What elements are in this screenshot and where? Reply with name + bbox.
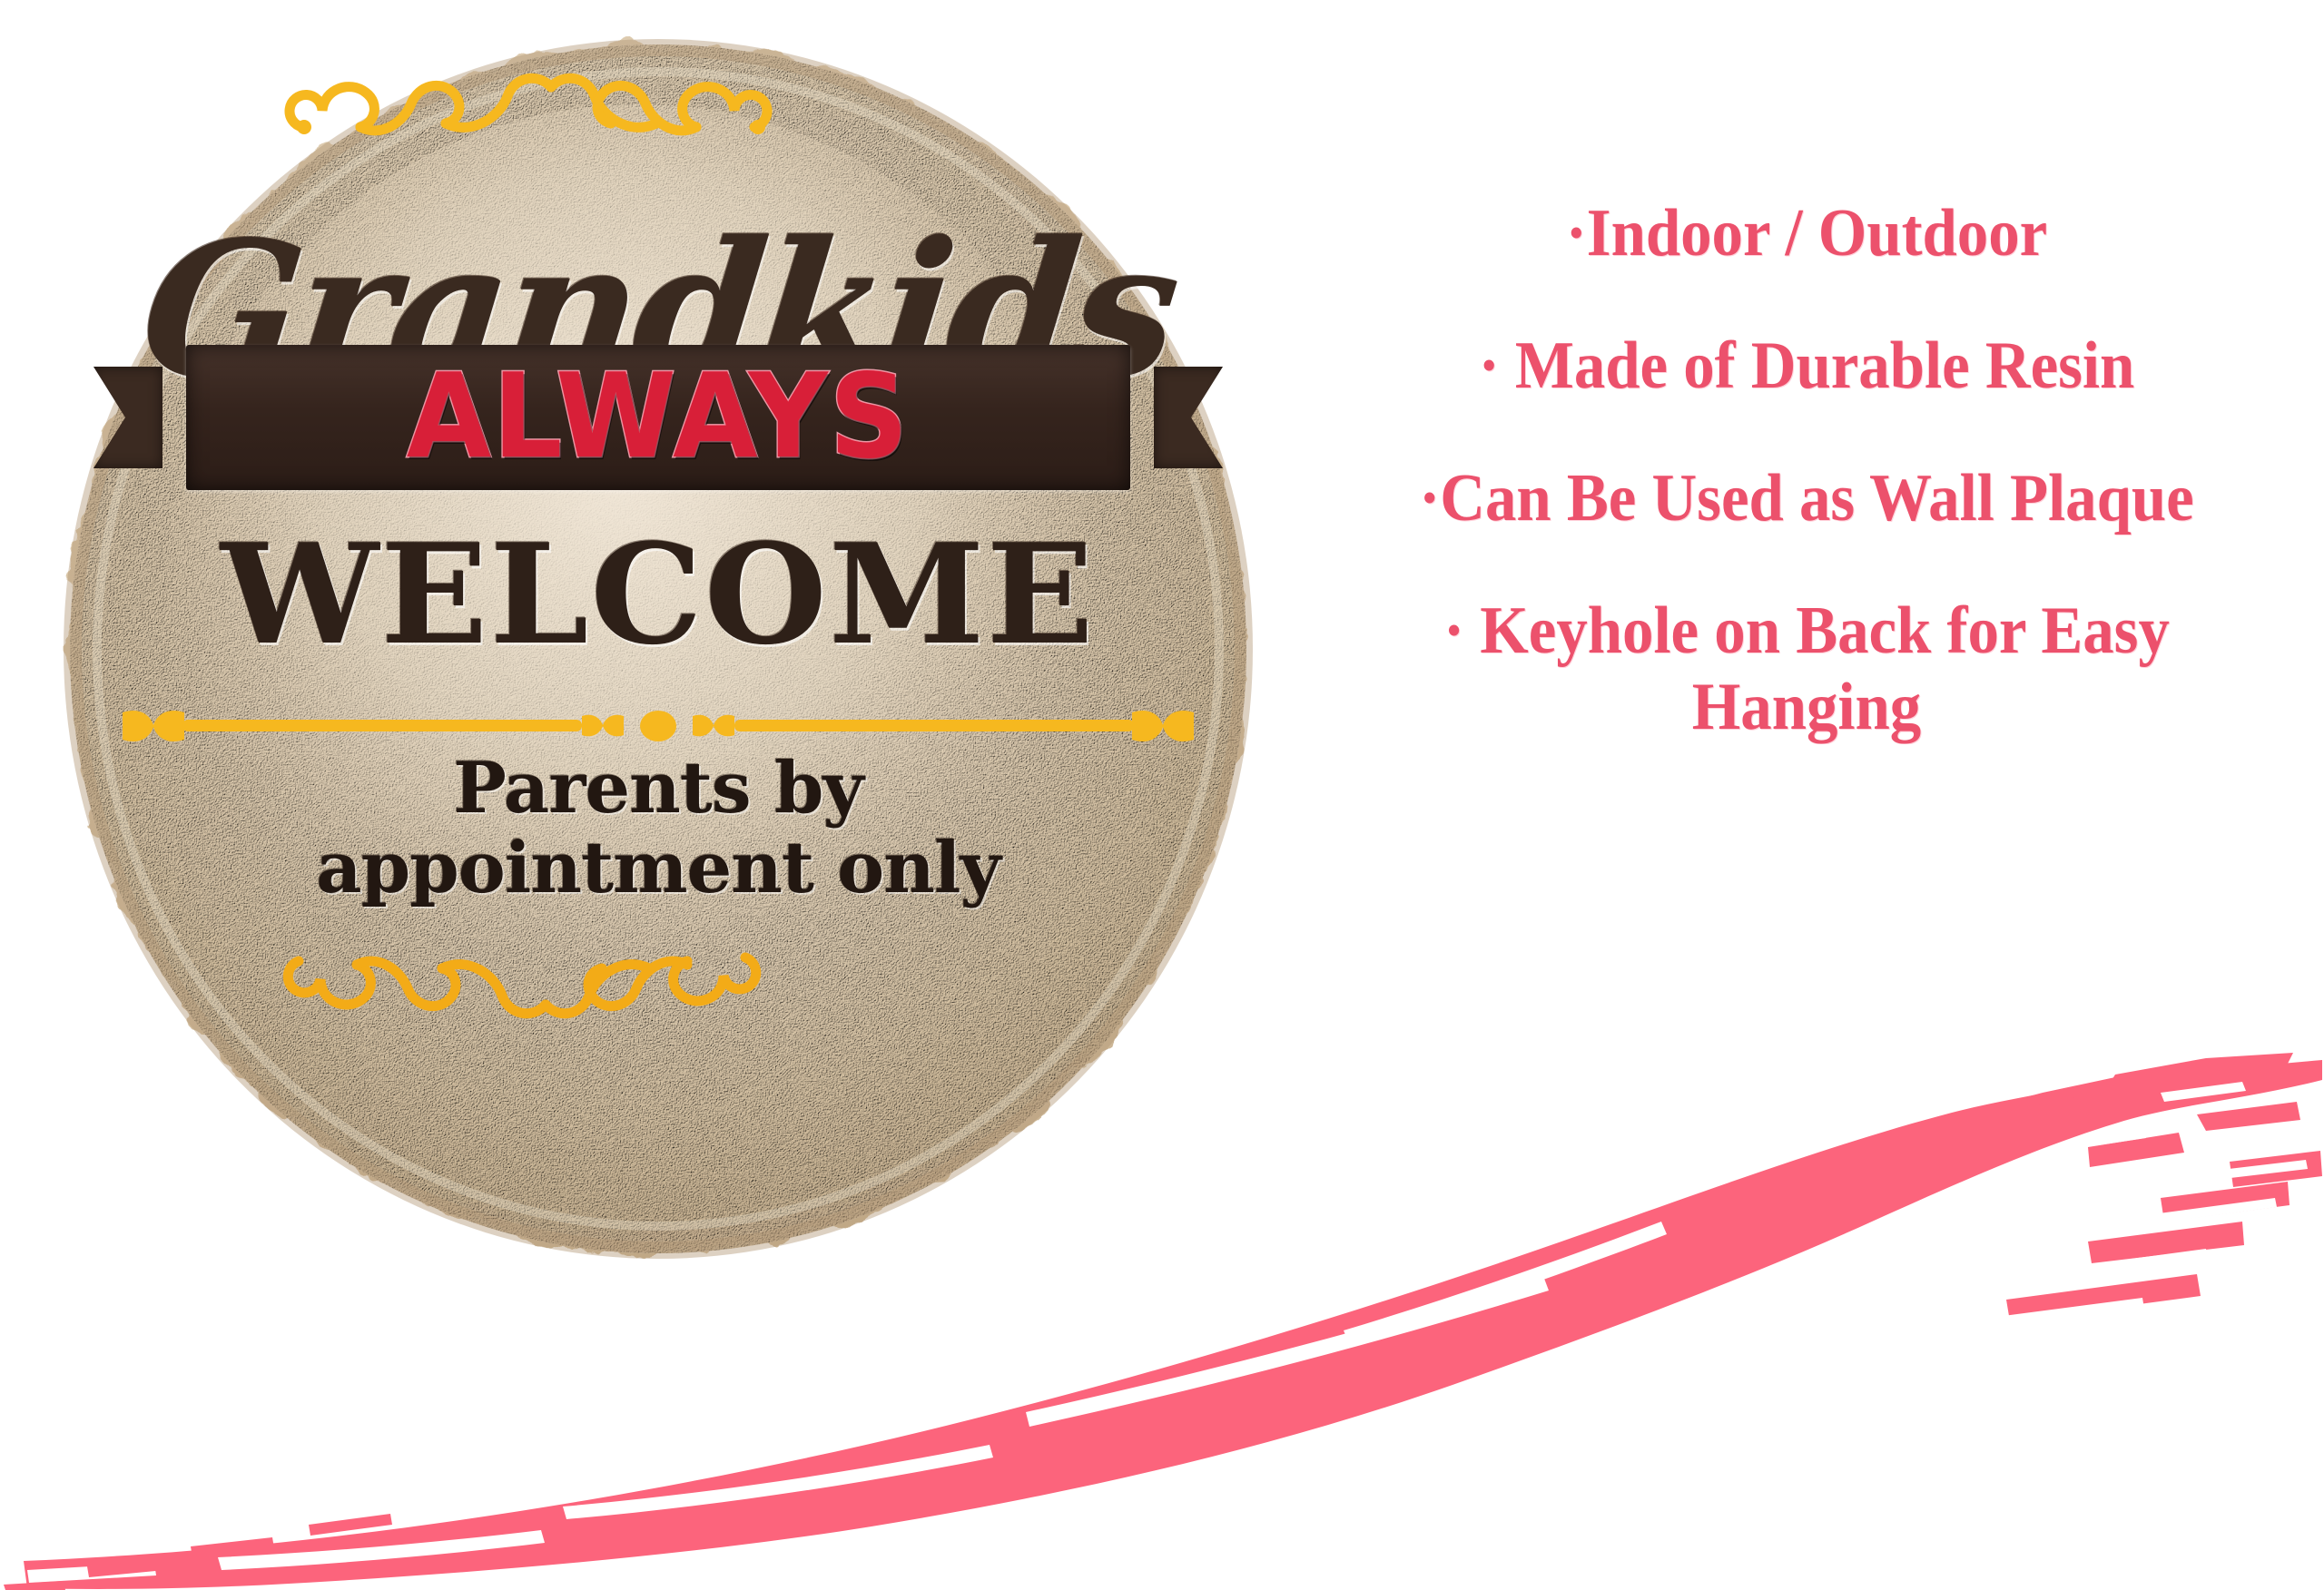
plaque-headline-welcome: WELCOME xyxy=(38,513,1279,675)
plaque-subtext: Parents by appointment only xyxy=(50,749,1266,908)
feature-bullet-wall-plaque: ·Can Be Used as Wall Plaque xyxy=(1343,460,2271,536)
feature-bullet-indoor-outdoor: ·Indoor / Outdoor xyxy=(1343,195,2271,271)
feature-bullet-list: ·Indoor / Outdoor · Made of Durable Resi… xyxy=(1307,195,2306,745)
bottom-scroll-flourish-icon xyxy=(277,930,767,1021)
plaque-subtext-line-1: Parents by xyxy=(50,749,1266,829)
pink-brush-stroke-decoration xyxy=(0,1053,2324,1590)
plaque-subtext-line-2: appointment only xyxy=(50,829,1266,908)
always-ribbon-banner: ALWAYS xyxy=(68,345,1248,490)
banner-plate: ALWAYS xyxy=(186,345,1130,490)
banner-tail-left xyxy=(94,367,162,468)
banner-tail-right xyxy=(1154,367,1223,468)
feature-bullet-keyhole-hanging: · Keyhole on Back for Easy Hanging xyxy=(1343,593,2271,745)
plaque-word-always: ALWAYS xyxy=(214,352,1102,483)
feature-bullet-durable-resin: · Made of Durable Resin xyxy=(1343,328,2271,404)
